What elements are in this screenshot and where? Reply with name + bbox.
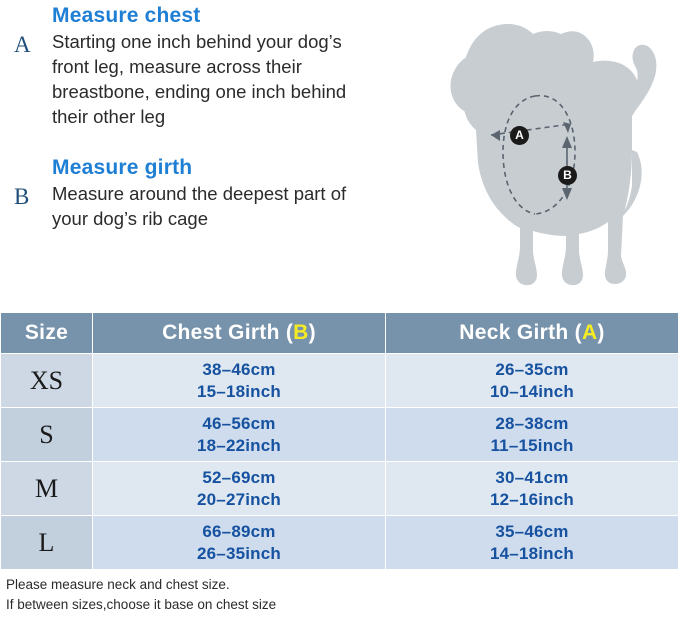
cell-neck-inch: 11–15inch: [387, 435, 677, 457]
cell-chest-cm: 52–69cm: [94, 467, 384, 489]
header-chest-tag: B: [293, 321, 308, 344]
footnote-line-2: If between sizes,choose it base on chest…: [6, 595, 679, 615]
instruction-block-chest: A Measure chest Starting one inch behind…: [8, 4, 372, 130]
marker-b: B: [558, 166, 577, 185]
cell-neck-cm: 26–35cm: [387, 359, 677, 381]
instructions-section: A Measure chest Starting one inch behind…: [0, 0, 679, 312]
cell-neck: 35–46cm 14–18inch: [386, 516, 679, 570]
cell-neck-cm: 30–41cm: [387, 467, 677, 489]
dog-diagram: A B: [379, 0, 679, 312]
instruction-body-girth: Measure around the deepest part of your …: [52, 182, 372, 232]
instruction-body-chest: Starting one inch behind your dog’s fron…: [52, 30, 372, 130]
cell-neck-cm: 35–46cm: [387, 521, 677, 543]
table-header-row: Size Chest Girth (B) Neck Girth (A): [1, 313, 679, 354]
cell-neck-inch: 12–16inch: [387, 489, 677, 511]
table-body: XS 38–46cm 15–18inch 26–35cm 10–14inch S…: [1, 354, 679, 570]
cell-size: S: [1, 408, 93, 462]
cell-neck-cm: 28–38cm: [387, 413, 677, 435]
table-row: L 66–89cm 26–35inch 35–46cm 14–18inch: [1, 516, 679, 570]
header-chest-suffix: ): [309, 321, 316, 344]
cell-neck-inch: 10–14inch: [387, 381, 677, 403]
table-row: S 46–56cm 18–22inch 28–38cm 11–15inch: [1, 408, 679, 462]
instruction-title-chest: Measure chest: [52, 4, 372, 28]
cell-chest-cm: 66–89cm: [94, 521, 384, 543]
marker-a: A: [510, 126, 529, 145]
cell-chest: 38–46cm 15–18inch: [93, 354, 386, 408]
cell-chest-cm: 38–46cm: [94, 359, 384, 381]
cell-neck: 26–35cm 10–14inch: [386, 354, 679, 408]
instruction-letter-b: B: [14, 184, 29, 210]
cell-chest-cm: 46–56cm: [94, 413, 384, 435]
header-size: Size: [1, 313, 93, 354]
cell-neck-inch: 14–18inch: [387, 543, 677, 565]
cell-chest: 52–69cm 20–27inch: [93, 462, 386, 516]
instruction-letter-a: A: [14, 32, 31, 58]
header-neck-suffix: ): [597, 321, 604, 344]
header-chest-text: Chest Girth (: [162, 321, 293, 344]
size-chart-table: Size Chest Girth (B) Neck Girth (A) XS 3…: [0, 312, 679, 570]
cell-neck: 30–41cm 12–16inch: [386, 462, 679, 516]
header-neck-tag: A: [582, 321, 597, 344]
cell-size: XS: [1, 354, 93, 408]
cell-chest-inch: 18–22inch: [94, 435, 384, 457]
table-row: M 52–69cm 20–27inch 30–41cm 12–16inch: [1, 462, 679, 516]
header-chest-girth: Chest Girth (B): [93, 313, 386, 354]
cell-chest-inch: 15–18inch: [94, 381, 384, 403]
header-neck-girth: Neck Girth (A): [386, 313, 679, 354]
dog-silhouette-icon: [379, 0, 679, 312]
cell-chest: 66–89cm 26–35inch: [93, 516, 386, 570]
instructions-list: A Measure chest Starting one inch behind…: [0, 0, 372, 238]
table-header: Size Chest Girth (B) Neck Girth (A): [1, 313, 679, 354]
header-neck-text: Neck Girth (: [459, 321, 582, 344]
instruction-block-girth: B Measure girth Measure around the deepe…: [8, 156, 372, 232]
cell-chest-inch: 26–35inch: [94, 543, 384, 565]
instruction-title-girth: Measure girth: [52, 156, 372, 180]
cell-neck: 28–38cm 11–15inch: [386, 408, 679, 462]
footnote: Please measure neck and chest size. If b…: [0, 570, 679, 614]
footnote-line-1: Please measure neck and chest size.: [6, 575, 679, 595]
cell-size: L: [1, 516, 93, 570]
cell-size: M: [1, 462, 93, 516]
table-row: XS 38–46cm 15–18inch 26–35cm 10–14inch: [1, 354, 679, 408]
cell-chest: 46–56cm 18–22inch: [93, 408, 386, 462]
cell-chest-inch: 20–27inch: [94, 489, 384, 511]
